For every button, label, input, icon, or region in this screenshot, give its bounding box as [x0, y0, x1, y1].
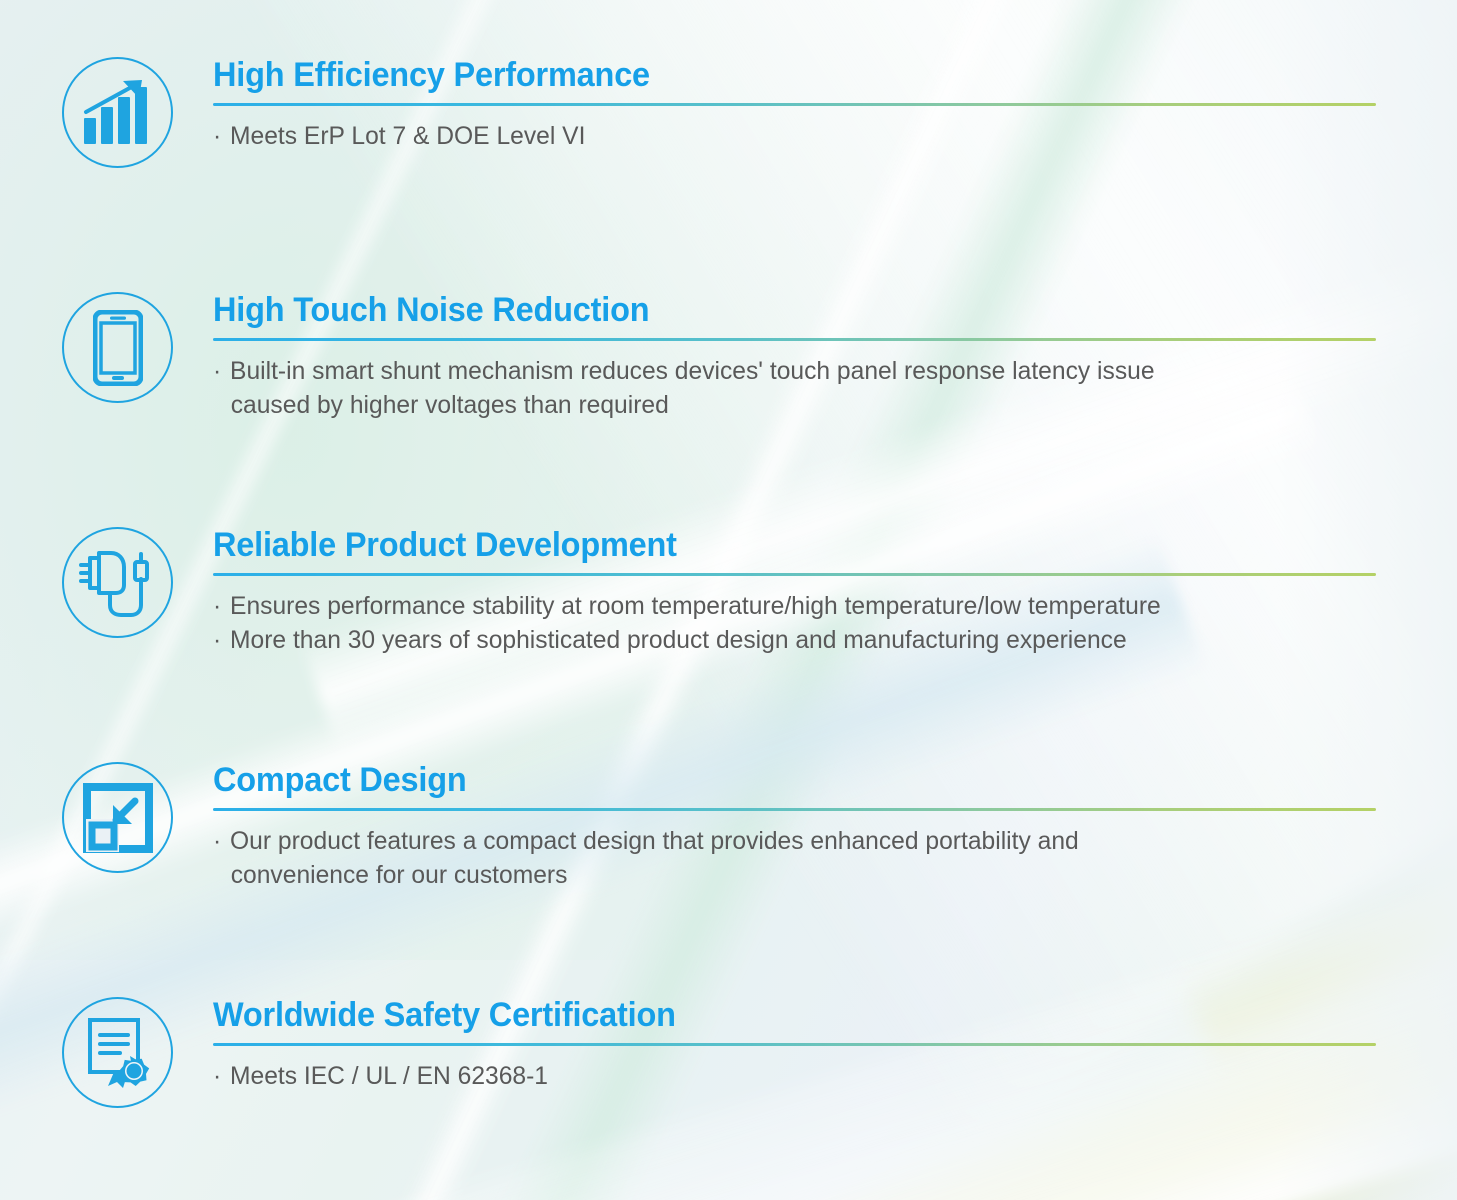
bullet-text: Ensures performance stability at room te…: [230, 592, 1161, 620]
feature-text-column: Compact Design· Our product features a c…: [213, 762, 1457, 892]
feature-divider-rule: [213, 573, 1376, 576]
bullet-text: Built-in smart shunt mechanism reduces d…: [230, 357, 1154, 385]
feature-text-column: Worldwide Safety Certification· Meets IE…: [213, 997, 1457, 1093]
feature-bullet-line: · Built-in smart shunt mechanism reduces…: [213, 354, 1438, 388]
bullet-text: Meets IEC / UL / EN 62368-1: [230, 1062, 548, 1090]
feature-bullet-list: · Built-in smart shunt mechanism reduces…: [213, 354, 1457, 422]
feature-bullet-line: · Meets IEC / UL / EN 62368-1: [213, 1059, 1438, 1093]
feature-title: High Touch Noise Reduction: [213, 292, 1401, 329]
compact-resize-icon: [83, 783, 153, 853]
feature-bullet-list: · Meets IEC / UL / EN 62368-1: [213, 1059, 1457, 1093]
feature-bullet-list: · Meets ErP Lot 7 & DOE Level VI: [213, 119, 1457, 153]
smartphone-icon: [93, 310, 143, 386]
feature-icon-circle: [62, 762, 173, 873]
certificate-seal-icon: [82, 1016, 154, 1090]
feature-title: Reliable Product Development: [213, 527, 1401, 564]
feature-divider-rule: [213, 338, 1376, 341]
feature-bullet-line: · Our product features a compact design …: [213, 824, 1438, 858]
feature-icon-circle: [62, 292, 173, 403]
feature-icon-circle: [62, 997, 173, 1108]
bar-chart-growth-icon: [82, 78, 154, 148]
feature-text-column: High Efficiency Performance· Meets ErP L…: [213, 57, 1457, 153]
bullet-marker: ·: [213, 592, 221, 620]
feature-bullet-line: · More than 30 years of sophisticated pr…: [213, 623, 1438, 657]
bullet-marker: ·: [213, 122, 221, 150]
feature-bullet-line: convenience for our customers: [213, 858, 1438, 892]
bullet-text-continued: caused by higher voltages than required: [213, 388, 669, 422]
feature-title: Compact Design: [213, 762, 1401, 799]
feature-icon-circle: [62, 57, 173, 168]
feature-bullet-line: · Meets ErP Lot 7 & DOE Level VI: [213, 119, 1438, 153]
feature-bullet-list: · Ensures performance stability at room …: [213, 589, 1457, 657]
feature-divider-rule: [213, 808, 1376, 811]
feature-divider-rule: [213, 103, 1376, 106]
feature-text-column: High Touch Noise Reduction· Built-in sma…: [213, 292, 1457, 422]
feature-bullet-list: · Our product features a compact design …: [213, 824, 1457, 892]
feature-icon-circle: [62, 527, 173, 638]
feature-divider-rule: [213, 1043, 1376, 1046]
feature-title: Worldwide Safety Certification: [213, 997, 1401, 1034]
feature-title: High Efficiency Performance: [213, 57, 1401, 94]
bullet-marker: ·: [213, 827, 221, 855]
bullet-text: Our product features a compact design th…: [230, 827, 1079, 855]
feature-text-column: Reliable Product Development· Ensures pe…: [213, 527, 1457, 657]
bullet-text: Meets ErP Lot 7 & DOE Level VI: [230, 122, 585, 150]
bullet-marker: ·: [213, 626, 221, 654]
bullet-text: More than 30 years of sophisticated prod…: [230, 626, 1127, 654]
feature-bullet-line: caused by higher voltages than required: [213, 388, 1438, 422]
bullet-marker: ·: [213, 1062, 221, 1090]
feature-bullet-line: · Ensures performance stability at room …: [213, 589, 1438, 623]
power-adapter-icon: [77, 545, 159, 621]
bullet-marker: ·: [213, 357, 221, 385]
bullet-text-continued: convenience for our customers: [213, 858, 567, 892]
